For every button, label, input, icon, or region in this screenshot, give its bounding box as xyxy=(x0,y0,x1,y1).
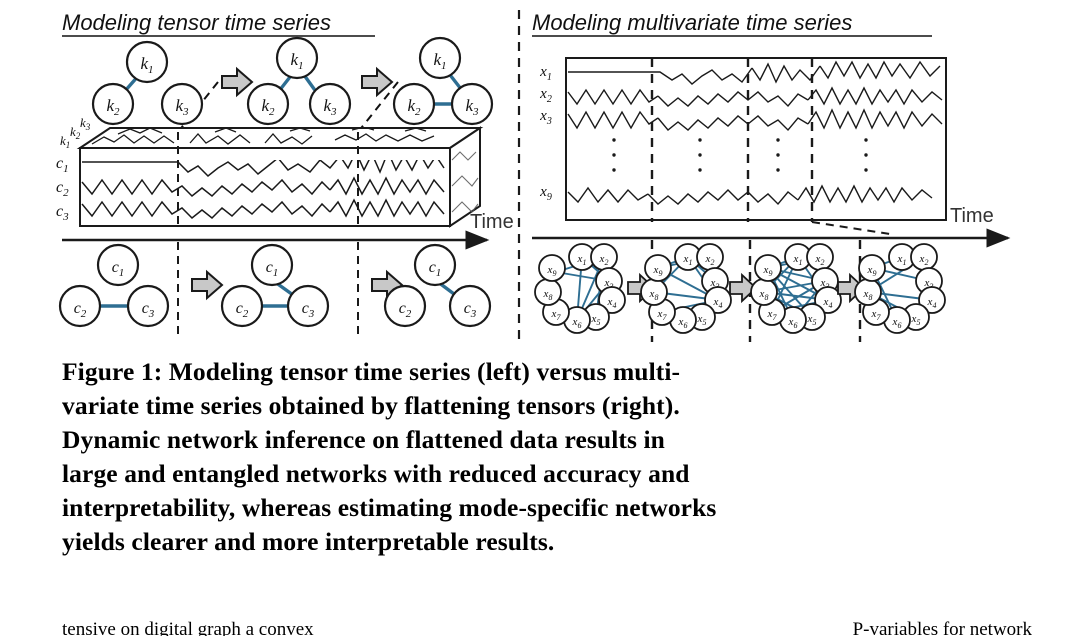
series-label-x2: x2 xyxy=(539,86,552,105)
left-panel: Modeling tensor time series k1 k2 k3 xyxy=(56,10,514,340)
c-network-3: c1 c2 c3 xyxy=(385,245,490,326)
tensor-mode-label-k3: k3 xyxy=(80,115,91,132)
caption-line-3: Dynamic network inference on flattened d… xyxy=(62,423,1032,457)
left-time-label: Time xyxy=(470,211,514,233)
body-text-clipped: tensive on digital graph a convex P-vari… xyxy=(62,618,1032,636)
tensor-row-label-c1: c1 xyxy=(56,155,69,175)
caption-line-2: variate time series obtained by flatteni… xyxy=(62,389,1032,423)
tensor-top-face xyxy=(80,128,480,148)
c-network-1: c1 c2 c3 xyxy=(60,245,168,326)
c-transition-arrow-1 xyxy=(192,272,222,298)
tensor-cube: k1 k2 k3 c1 c2 c3 xyxy=(56,115,480,226)
k-network-3: k1 k2 k3 xyxy=(394,38,492,124)
k-network-2: k1 k2 k3 xyxy=(248,38,350,124)
x-network-4-nodes: x1 x2 x3 x4 x5 x6 x7 xyxy=(855,244,945,333)
c-network-2: c1 c2 c3 xyxy=(222,245,328,326)
series-label-x1: x1 xyxy=(539,64,552,83)
caption-line-5: interpretability, whereas estimating mod… xyxy=(62,491,1032,525)
figure-1-graphic: Modeling tensor time series k1 k2 k3 xyxy=(0,0,1080,350)
tensor-row-label-c3: c3 xyxy=(56,203,69,223)
tensor-mode-label-k1: k1 xyxy=(60,133,70,150)
x-network-1: x1 x2 x3 x4 x5 x6 x7 xyxy=(535,244,625,333)
x-network-3: x1 x2 x3 x4 x5 x6 x7 xyxy=(751,244,841,333)
k-network-1: k1 k2 k3 xyxy=(93,42,202,124)
caption-line-1: Figure 1: Modeling tensor time series (l… xyxy=(62,355,1032,389)
tensor-row-label-c2: c2 xyxy=(56,179,69,199)
k-transition-arrow-1 xyxy=(222,69,252,95)
body-text-left-column: tensive on digital graph a convex xyxy=(62,618,314,636)
x-network-4: x1 x2 x3 x4 x5 x6 x7 xyxy=(855,244,945,333)
right-time-label: Time xyxy=(950,205,994,227)
caption-line-4: large and entangled networks with reduce… xyxy=(62,457,1032,491)
left-panel-title: Modeling tensor time series xyxy=(62,10,331,35)
x-network-2: x1 x2 x3 x4 x5 x6 x7 xyxy=(641,244,731,333)
series-label-x3: x3 xyxy=(539,108,552,127)
x-network-2-nodes: x1 x2 x3 x4 x5 x6 x7 xyxy=(641,244,731,333)
series-label-x9: x9 xyxy=(539,184,552,203)
right-panel-title: Modeling multivariate time series xyxy=(532,10,852,35)
right-panel: Modeling multivariate time series xyxy=(532,10,1008,342)
x-network-3-nodes: x1 x2 x3 x4 x5 x6 x7 xyxy=(751,244,841,333)
k-transition-arrow-2 xyxy=(362,69,392,95)
body-text-right-column: P-variables for network xyxy=(853,618,1032,636)
caption-line-6: yields clearer and more interpretable re… xyxy=(62,525,1032,559)
figure-page: Modeling tensor time series k1 k2 k3 xyxy=(0,0,1080,636)
figure-svg: Modeling tensor time series k1 k2 k3 xyxy=(0,0,1080,350)
figure-caption: Figure 1: Modeling tensor time series (l… xyxy=(62,355,1032,559)
right-slice-connector xyxy=(812,222,890,234)
